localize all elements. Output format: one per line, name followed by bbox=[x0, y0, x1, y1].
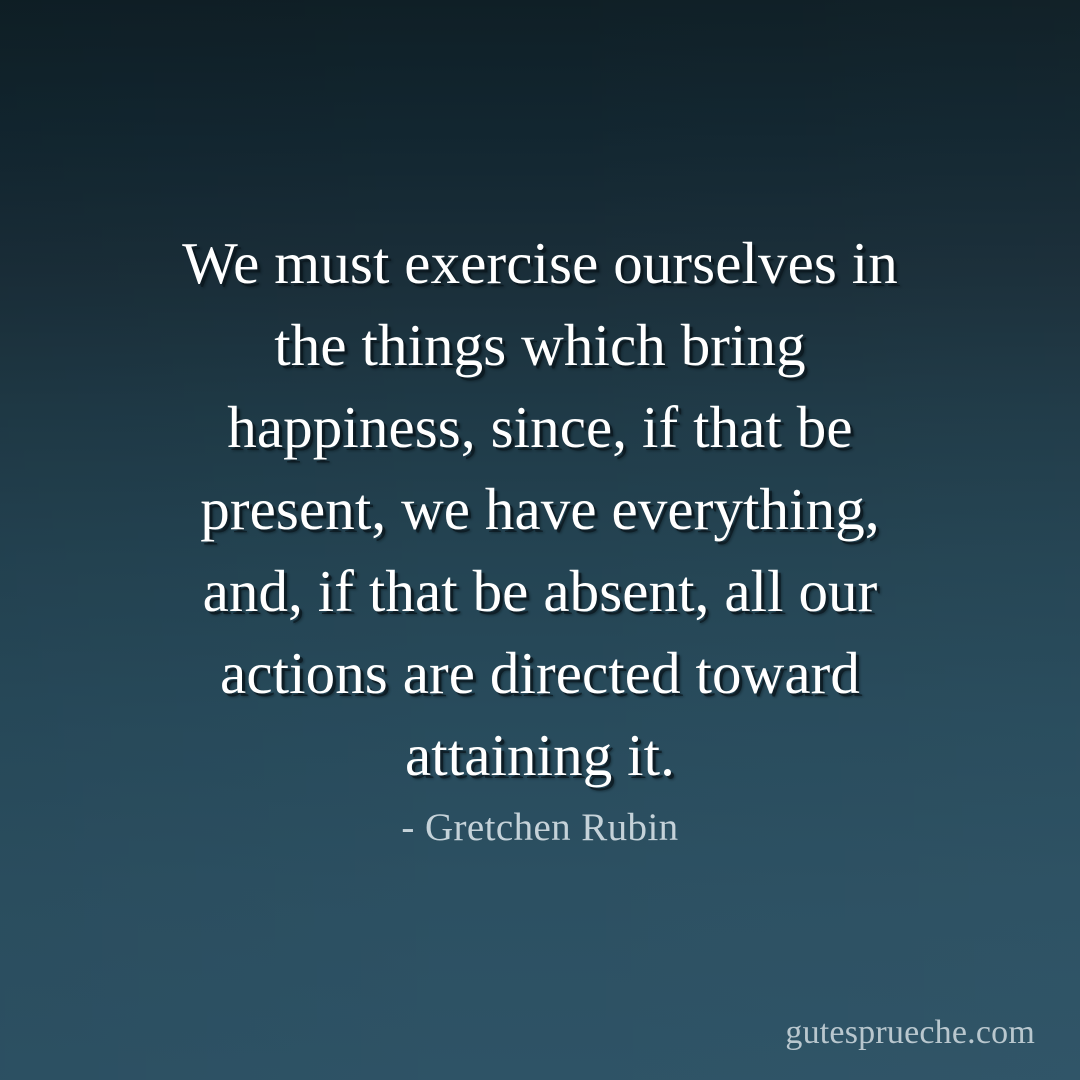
quote-line: present, we have everything, bbox=[60, 468, 1020, 550]
quote-line: and, if that be absent, all our bbox=[60, 550, 1020, 632]
site-watermark: gutesprueche.com bbox=[785, 1014, 1035, 1052]
quote-attribution: - Gretchen Rubin bbox=[0, 802, 1080, 854]
quote-line: We must exercise ourselves in bbox=[60, 222, 1020, 304]
quote-card: We must exercise ourselves in the things… bbox=[0, 0, 1080, 1080]
quote-text-block: We must exercise ourselves in the things… bbox=[60, 222, 1020, 796]
quote-line: attaining it. bbox=[60, 714, 1020, 796]
quote-line: happiness, since, if that be bbox=[60, 386, 1020, 468]
quote-line: the things which bring bbox=[60, 304, 1020, 386]
quote-line: actions are directed toward bbox=[60, 632, 1020, 714]
